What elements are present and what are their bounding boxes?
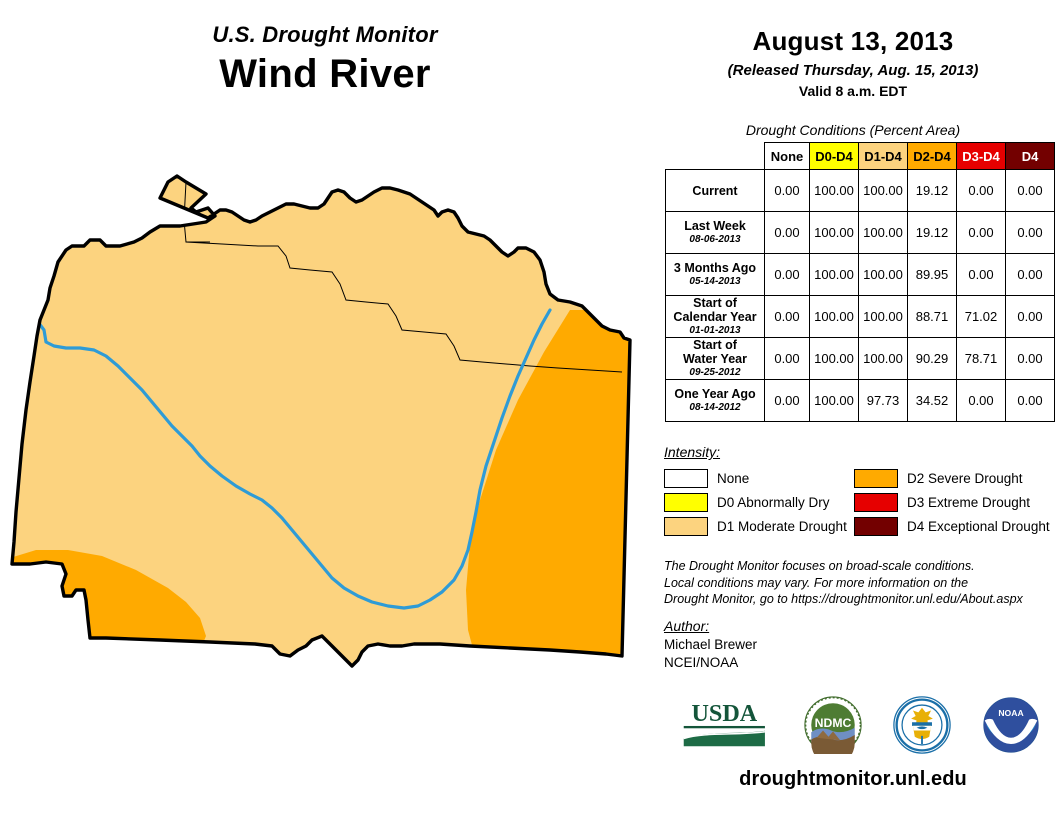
legend-column-right: D2 Severe DroughtD3 Extreme DroughtD4 Ex… [854,466,1044,538]
drought-map[interactable] [10,160,650,770]
row-label-line: Start of [666,338,764,352]
cell-d0-d4: 100.00 [810,254,859,296]
cell-d1-d4: 100.00 [859,296,908,338]
intensity-legend: Intensity: NoneD0 Abnormally DryD1 Moder… [664,444,1056,538]
legend-item: D4 Exceptional Drought [854,514,1044,538]
legend-grid: NoneD0 Abnormally DryD1 Moderate Drought… [664,466,1056,538]
cell-d3-d4: 71.02 [957,296,1006,338]
cell-d3-d4: 78.71 [957,338,1006,380]
legend-label: D4 Exceptional Drought [907,519,1050,534]
note-line-2: Local conditions may vary. For more info… [664,575,1056,592]
legend-title: Intensity: [664,444,1056,460]
legend-item: None [664,466,854,490]
report-date: August 13, 2013 [650,26,1056,57]
cell-d1-d4: 100.00 [859,170,908,212]
svg-text:USDA: USDA [691,700,757,727]
legend-swatch-icon [664,493,708,512]
cell-d4: 0.00 [1006,380,1055,422]
row-label-date: 09-25-2012 [666,367,764,378]
cell-none: 0.00 [765,212,810,254]
cell-d4: 0.00 [1006,170,1055,212]
row-label-line: One Year Ago [666,387,764,401]
legend-swatch-icon [664,517,708,536]
cell-d1-d4: 97.73 [859,380,908,422]
column-header-none: None [765,143,810,170]
column-header-d4: D4 [1006,143,1055,170]
cell-d2-d4: 90.29 [908,338,957,380]
cell-d3-d4: 0.00 [957,380,1006,422]
row-label-date: 01-01-2013 [666,325,764,336]
disclaimer-notes: The Drought Monitor focuses on broad-sca… [664,558,1056,608]
row-label: Last Week08-06-2013 [666,212,765,254]
table-row: Start ofCalendar Year01-01-20130.00100.0… [666,296,1055,338]
drought-conditions-table: None D0-D4 D1-D4 D2-D4 D3-D4 D4 Current0… [665,142,1055,422]
info-panel: August 13, 2013 (Released Thursday, Aug.… [650,0,1056,816]
table-corner-cell [666,143,765,170]
legend-column-left: NoneD0 Abnormally DryD1 Moderate Drought [664,466,854,538]
logo-row: USDA NDMC [660,694,1056,756]
ndmc-logo[interactable]: NDMC [804,696,862,754]
region-title: Wind River [0,52,650,97]
row-label-line: 3 Months Ago [666,261,764,275]
author-name: Michael Brewer [664,637,1056,652]
legend-label: D1 Moderate Drought [717,519,847,534]
valid-time: Valid 8 a.m. EDT [650,83,1056,99]
cell-none: 0.00 [765,254,810,296]
row-label: Start ofWater Year09-25-2012 [666,338,765,380]
cell-d1-d4: 100.00 [859,254,908,296]
legend-label: D0 Abnormally Dry [717,495,830,510]
cell-d3-d4: 0.00 [957,254,1006,296]
cell-d2-d4: 88.71 [908,296,957,338]
cell-d0-d4: 100.00 [810,380,859,422]
cell-d2-d4: 19.12 [908,212,957,254]
table-caption: Drought Conditions (Percent Area) [650,122,1056,138]
row-label-line: Last Week [666,219,764,233]
row-label: 3 Months Ago05-14-2013 [666,254,765,296]
cell-d4: 0.00 [1006,212,1055,254]
column-header-d1-d4: D1-D4 [859,143,908,170]
drought-monitor-supertitle: U.S. Drought Monitor [0,22,650,48]
noaa-logo[interactable]: NOAA [982,696,1040,754]
table-row: Start ofWater Year09-25-20120.00100.0010… [666,338,1055,380]
cell-d2-d4: 19.12 [908,170,957,212]
table-body: Current0.00100.00100.0019.120.000.00Last… [666,170,1055,422]
cell-d0-d4: 100.00 [810,170,859,212]
row-label-line: Calendar Year [666,310,764,324]
website-url[interactable]: droughtmonitor.unl.edu [650,768,1056,791]
cell-d1-d4: 100.00 [859,338,908,380]
row-label-line: Current [666,184,764,198]
cell-none: 0.00 [765,380,810,422]
map-fill-layer [10,160,650,770]
map-svg[interactable] [10,160,650,770]
table-row: Last Week08-06-20130.00100.00100.0019.12… [666,212,1055,254]
note-line-1: The Drought Monitor focuses on broad-sca… [664,558,1056,575]
cell-none: 0.00 [765,338,810,380]
legend-swatch-icon [854,493,898,512]
cell-d3-d4: 0.00 [957,170,1006,212]
date-block: August 13, 2013 (Released Thursday, Aug.… [650,26,1056,99]
usda-logo[interactable]: USDA [676,696,773,754]
map-panel: U.S. Drought Monitor Wind River [0,0,650,816]
row-label: Current [666,170,765,212]
table-header-row: None D0-D4 D1-D4 D2-D4 D3-D4 D4 [666,143,1055,170]
legend-swatch-icon [664,469,708,488]
legend-swatch-icon [854,469,898,488]
row-label-date: 05-14-2013 [666,276,764,287]
row-label-line: Water Year [666,352,764,366]
legend-item: D3 Extreme Drought [854,490,1044,514]
row-label-date: 08-06-2013 [666,234,764,245]
column-header-d3-d4: D3-D4 [957,143,1006,170]
column-header-d2-d4: D2-D4 [908,143,957,170]
cell-d0-d4: 100.00 [810,212,859,254]
svg-text:NDMC: NDMC [814,716,851,730]
cell-none: 0.00 [765,296,810,338]
row-label-line: Start of [666,296,764,310]
svg-text:NOAA: NOAA [999,708,1024,718]
cell-d0-d4: 100.00 [810,338,859,380]
legend-item: D2 Severe Drought [854,466,1044,490]
author-affiliation: NCEI/NOAA [664,655,1056,670]
cell-d2-d4: 89.95 [908,254,957,296]
column-header-d0-d4: D0-D4 [810,143,859,170]
cell-d0-d4: 100.00 [810,296,859,338]
cell-d4: 0.00 [1006,338,1055,380]
release-date: (Released Thursday, Aug. 15, 2013) [650,62,1056,79]
title-block: U.S. Drought Monitor Wind River [0,22,650,97]
row-label: One Year Ago08-14-2012 [666,380,765,422]
author-title: Author: [664,618,1056,634]
legend-label: D3 Extreme Drought [907,495,1030,510]
table-row: 3 Months Ago05-14-20130.00100.00100.0089… [666,254,1055,296]
table-row: One Year Ago08-14-20120.00100.0097.7334.… [666,380,1055,422]
row-label-date: 08-14-2012 [666,402,764,413]
cell-d2-d4: 34.52 [908,380,957,422]
cell-d1-d4: 100.00 [859,212,908,254]
usdc-seal-logo[interactable] [893,696,951,754]
legend-item: D0 Abnormally Dry [664,490,854,514]
cell-none: 0.00 [765,170,810,212]
cell-d4: 0.00 [1006,254,1055,296]
legend-label: None [717,471,749,486]
table-row: Current0.00100.00100.0019.120.000.00 [666,170,1055,212]
row-label: Start ofCalendar Year01-01-2013 [666,296,765,338]
note-line-3: Drought Monitor, go to https://droughtmo… [664,591,1056,608]
cell-d3-d4: 0.00 [957,212,1006,254]
legend-item: D1 Moderate Drought [664,514,854,538]
legend-swatch-icon [854,517,898,536]
legend-label: D2 Severe Drought [907,471,1023,486]
author-block: Author: Michael Brewer NCEI/NOAA [664,618,1056,670]
cell-d4: 0.00 [1006,296,1055,338]
